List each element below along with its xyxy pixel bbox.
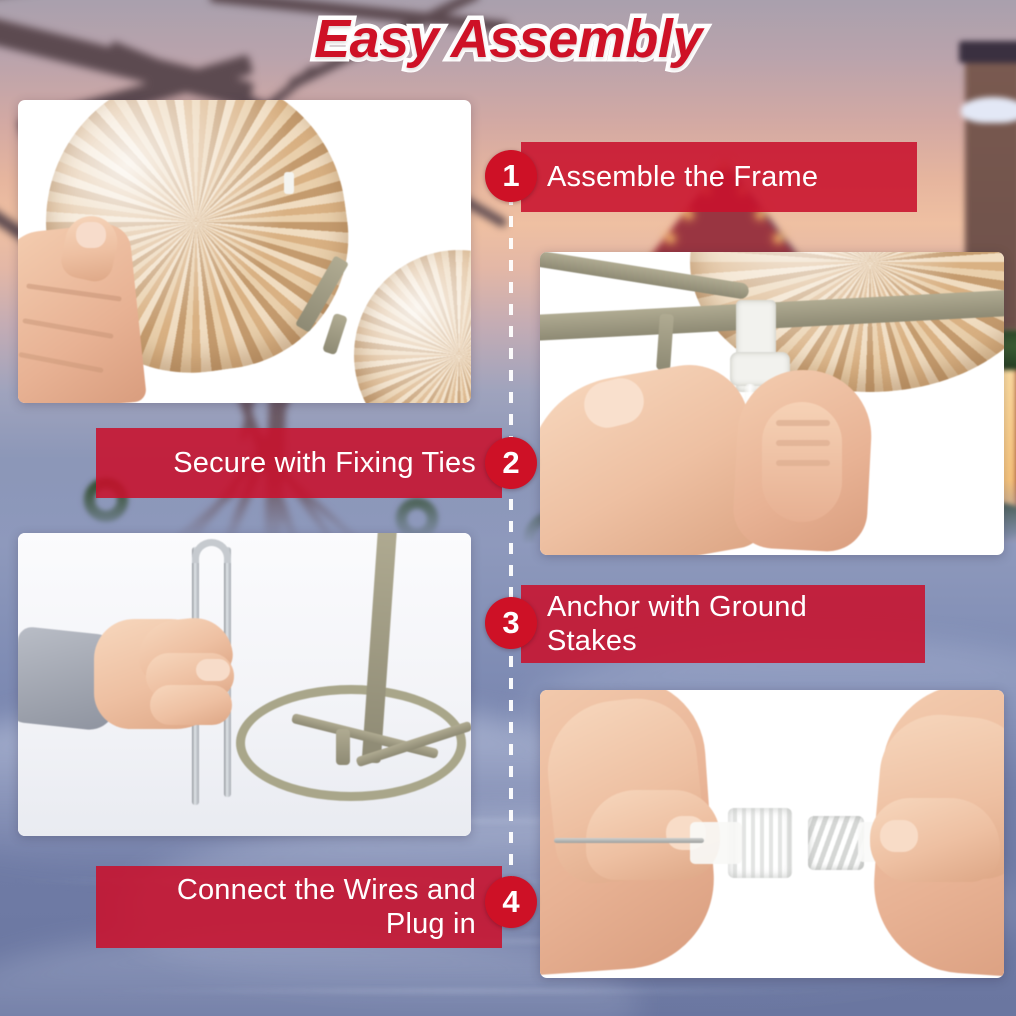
step-connector-line xyxy=(509,612,513,907)
step-4-label-line-1: Connect the Wires and xyxy=(177,873,476,907)
page-title: Easy Assembly xyxy=(0,8,1016,70)
step-3-label-line-1: Anchor with Ground xyxy=(547,590,807,624)
step-1-photo xyxy=(18,100,471,403)
step-2-banner: Secure with Fixing Ties xyxy=(96,428,502,498)
step-1-number: 1 xyxy=(502,158,519,194)
step-3-photo xyxy=(18,533,471,836)
step-4-photo xyxy=(540,690,1004,978)
step-2-badge: 2 xyxy=(485,437,537,489)
step-3-number: 3 xyxy=(502,605,519,641)
step-1-label: Assemble the Frame xyxy=(547,160,818,194)
step-3-banner: Anchor with Ground Stakes xyxy=(521,585,925,663)
step-1-badge: 1 xyxy=(485,150,537,202)
step-3-label-line-2: Stakes xyxy=(547,624,807,658)
step-4-banner: Connect the Wires and Plug in xyxy=(96,866,502,948)
step-4-number: 4 xyxy=(502,884,519,920)
step-connector-line xyxy=(509,172,513,472)
step-3-badge: 3 xyxy=(485,597,537,649)
step-2-label: Secure with Fixing Ties xyxy=(173,446,476,480)
step-2-number: 2 xyxy=(502,445,519,481)
step-2-photo xyxy=(540,252,1004,555)
step-4-badge: 4 xyxy=(485,876,537,928)
step-1-banner: Assemble the Frame xyxy=(521,142,917,212)
step-4-label-line-2: Plug in xyxy=(386,907,476,941)
